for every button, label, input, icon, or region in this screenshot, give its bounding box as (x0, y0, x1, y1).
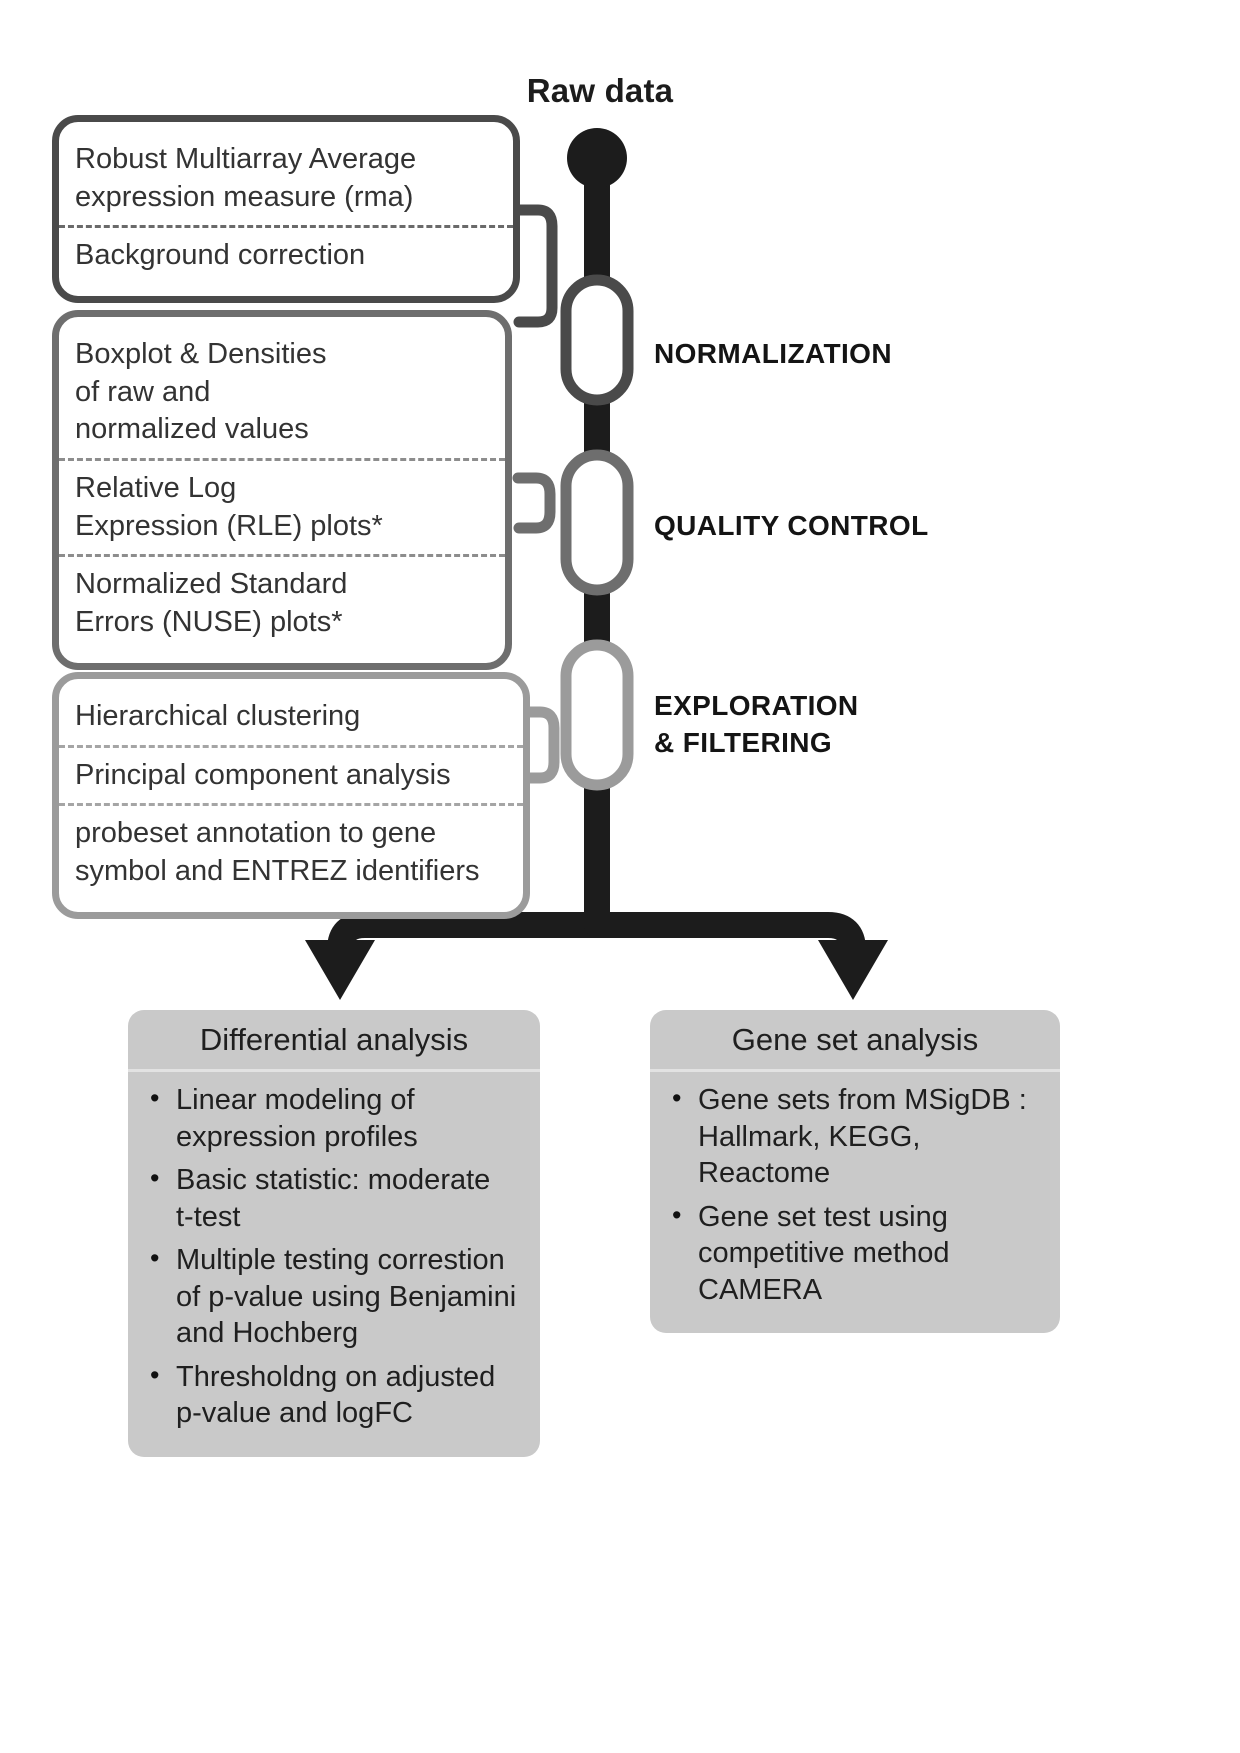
step-row-pca: Principal component analysis (59, 745, 523, 804)
branch-right-arrowhead (818, 940, 888, 1000)
branch-right-arrow (597, 900, 853, 975)
step-row-rle-plots: Relative Log Expression (RLE) plots* (59, 458, 505, 554)
panel-title-gene-set-analysis: Gene set analysis (650, 1010, 1060, 1072)
step-row-probeset-annotation: probeset annotation to gene symbol and E… (59, 803, 523, 899)
list-item: Linear modeling of expression profiles (146, 1082, 522, 1155)
list-item: Basic statistic: moderate t-test (146, 1162, 522, 1235)
stage-label-normalization: NORMALIZATION (654, 336, 892, 373)
panel-title-differential-analysis: Differential analysis (128, 1010, 540, 1072)
step-row-background-correction: Background correction (59, 225, 513, 284)
flowchart-diagram: Raw data Robust Multiarray Average expre… (0, 0, 1240, 1753)
step-row-hierarchical-clustering: Hierarchical clustering (59, 689, 523, 745)
list-item: Thresholdng on adjusted p-value and logF… (146, 1359, 522, 1432)
stage-capsule-normalization (566, 280, 628, 400)
list-item: Multiple testing correstion of p-value u… (146, 1242, 522, 1352)
page-title: Raw data (450, 72, 750, 110)
stage-label-exploration-filtering: EXPLORATION & FILTERING (654, 688, 859, 762)
step-row-nuse-plots: Normalized Standard Errors (NUSE) plots* (59, 554, 505, 650)
panel-list-gene-set-analysis: Gene sets from MSigDB : Hallmark, KEGG, … (650, 1072, 1060, 1333)
connector-quality-control (518, 478, 550, 528)
panel-differential-analysis: Differential analysis Linear modeling of… (128, 1010, 540, 1457)
stage-capsule-quality-control (566, 455, 628, 590)
connector-normalization (519, 210, 552, 322)
list-item: Gene set test using competitive method C… (668, 1199, 1042, 1309)
step-row-boxplot-densities: Boxplot & Densities of raw and normalize… (59, 327, 505, 458)
step-box-normalization: Robust Multiarray Average expression mea… (52, 115, 520, 303)
stage-label-quality-control: QUALITY CONTROL (654, 508, 929, 545)
branch-left-arrowhead (305, 940, 375, 1000)
panel-gene-set-analysis: Gene set analysis Gene sets from MSigDB … (650, 1010, 1060, 1333)
step-row-rma: Robust Multiarray Average expression mea… (59, 132, 513, 225)
list-item: Gene sets from MSigDB : Hallmark, KEGG, … (668, 1082, 1042, 1192)
step-box-quality-control: Boxplot & Densities of raw and normalize… (52, 310, 512, 670)
stage-capsule-exploration-filtering (566, 645, 628, 785)
raw-data-node (567, 128, 627, 188)
step-box-exploration-filtering: Hierarchical clustering Principal compon… (52, 672, 530, 919)
panel-list-differential-analysis: Linear modeling of expression profiles B… (128, 1072, 540, 1457)
